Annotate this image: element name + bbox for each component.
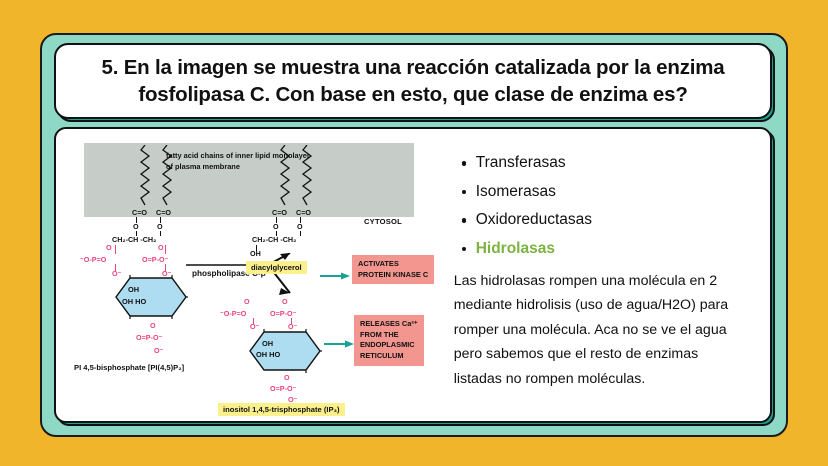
glycerol-backbone: CH₂-CH -CH₂ [252, 235, 296, 244]
hydroxyl-label: OH HO [256, 350, 280, 359]
phosphate-group: O=P-O⁻ [136, 333, 162, 342]
fatty-acid-chain-icon [162, 145, 172, 209]
carbonyl-atom: C=O [272, 208, 287, 217]
answer-option[interactable]: Oxidoreductasas [476, 212, 744, 228]
hydroxyl-label: OH [262, 339, 273, 348]
substrate-caption: PI 4,5-bisphosphate [PI(4,5)P₂] [74, 363, 184, 372]
hydroxyl-label: OH HO [122, 297, 146, 306]
bond [300, 231, 301, 236]
glycerol-backbone: CH₂-CH -CH₂ [112, 235, 156, 244]
explanation-text: Las hidrolasas rompen una molécula en 2 … [454, 269, 744, 391]
callout-line: FROM THE [360, 330, 418, 341]
content-panel: fatty acid chains of inner lipid monolay… [54, 127, 772, 423]
answer-option[interactable]: Isomerasas [476, 184, 744, 200]
carbonyl-atom: C=O [132, 208, 147, 217]
slide-stage: 5. En la imagen se muestra una reacción … [0, 0, 828, 466]
membrane-label: fatty acid chains of inner lipid monolay… [166, 151, 316, 172]
fatty-acid-chain-icon [140, 145, 150, 209]
oxygen-atom: O [297, 222, 303, 231]
diacylglycerol-label: diacylglycerol [246, 261, 307, 274]
callout-line: ENDOPLASMIC [360, 340, 418, 351]
callout-line: RELEASES Ca²⁺ [360, 319, 418, 330]
phosphate-group: O [284, 373, 290, 382]
phosphate-group: O [106, 243, 112, 252]
fatty-acid-chain-icon [302, 145, 312, 209]
callout-activates-pkc: ACTIVATES PROTEIN KINASE C [352, 255, 434, 284]
hydroxyl-atom: OH [250, 249, 261, 258]
phosphate-group: O=P-O⁻ [270, 384, 296, 393]
phosphate-group: O=P-O⁻ [142, 255, 168, 264]
question-title-panel: 5. En la imagen se muestra una reacción … [54, 43, 772, 119]
ip3-label: inositol 1,4,5-trisphosphate (IP₃) [218, 403, 345, 416]
phosphate-group: ⁻O-P=O [220, 309, 246, 318]
answer-options-list: Transferasas Isomerasas Oxidoreductasas … [454, 155, 744, 256]
oxygen-atom: O⁻ [154, 346, 163, 355]
callout-arrow [324, 335, 354, 353]
phosphate-group: O [150, 321, 156, 330]
bond [165, 245, 166, 254]
answers-column: Transferasas Isomerasas Oxidoreductasas … [444, 129, 770, 421]
phosphate-group: O=P-O⁻ [270, 309, 296, 318]
cytosol-label: CYTOSOL [364, 217, 402, 226]
callout-line: PROTEIN KINASE C [358, 270, 428, 281]
carbonyl-atom: C=O [296, 208, 311, 217]
callout-arrow [320, 267, 350, 285]
bond [160, 231, 161, 236]
callout-line: ACTIVATES [358, 259, 428, 270]
phosphate-group: ⁻O-P=O [80, 255, 106, 264]
oxygen-atom: O [133, 222, 139, 231]
answer-option[interactable]: Transferasas [476, 155, 744, 171]
callout-line: RETICULUM [360, 351, 418, 362]
oxygen-atom: O [157, 222, 163, 231]
carbonyl-atom: C=O [156, 208, 171, 217]
callout-releases-calcium: RELEASES Ca²⁺ FROM THE ENDOPLASMIC RETIC… [354, 315, 424, 366]
phosphate-group: O [158, 243, 164, 252]
fatty-acid-chain-icon [280, 145, 290, 209]
answer-option-correct[interactable]: Hidrolasas [476, 241, 744, 257]
page-title: 5. En la imagen se muestra una reacción … [70, 54, 756, 108]
figure-column: fatty acid chains of inner lipid monolay… [56, 129, 444, 421]
oxygen-atom: O [273, 222, 279, 231]
phosphate-group: O [244, 297, 250, 306]
phosphate-group: O [282, 297, 288, 306]
hydroxyl-label: OH [128, 285, 139, 294]
bond [115, 245, 116, 254]
pip2-hydrolysis-diagram: fatty acid chains of inner lipid monolay… [70, 137, 432, 413]
